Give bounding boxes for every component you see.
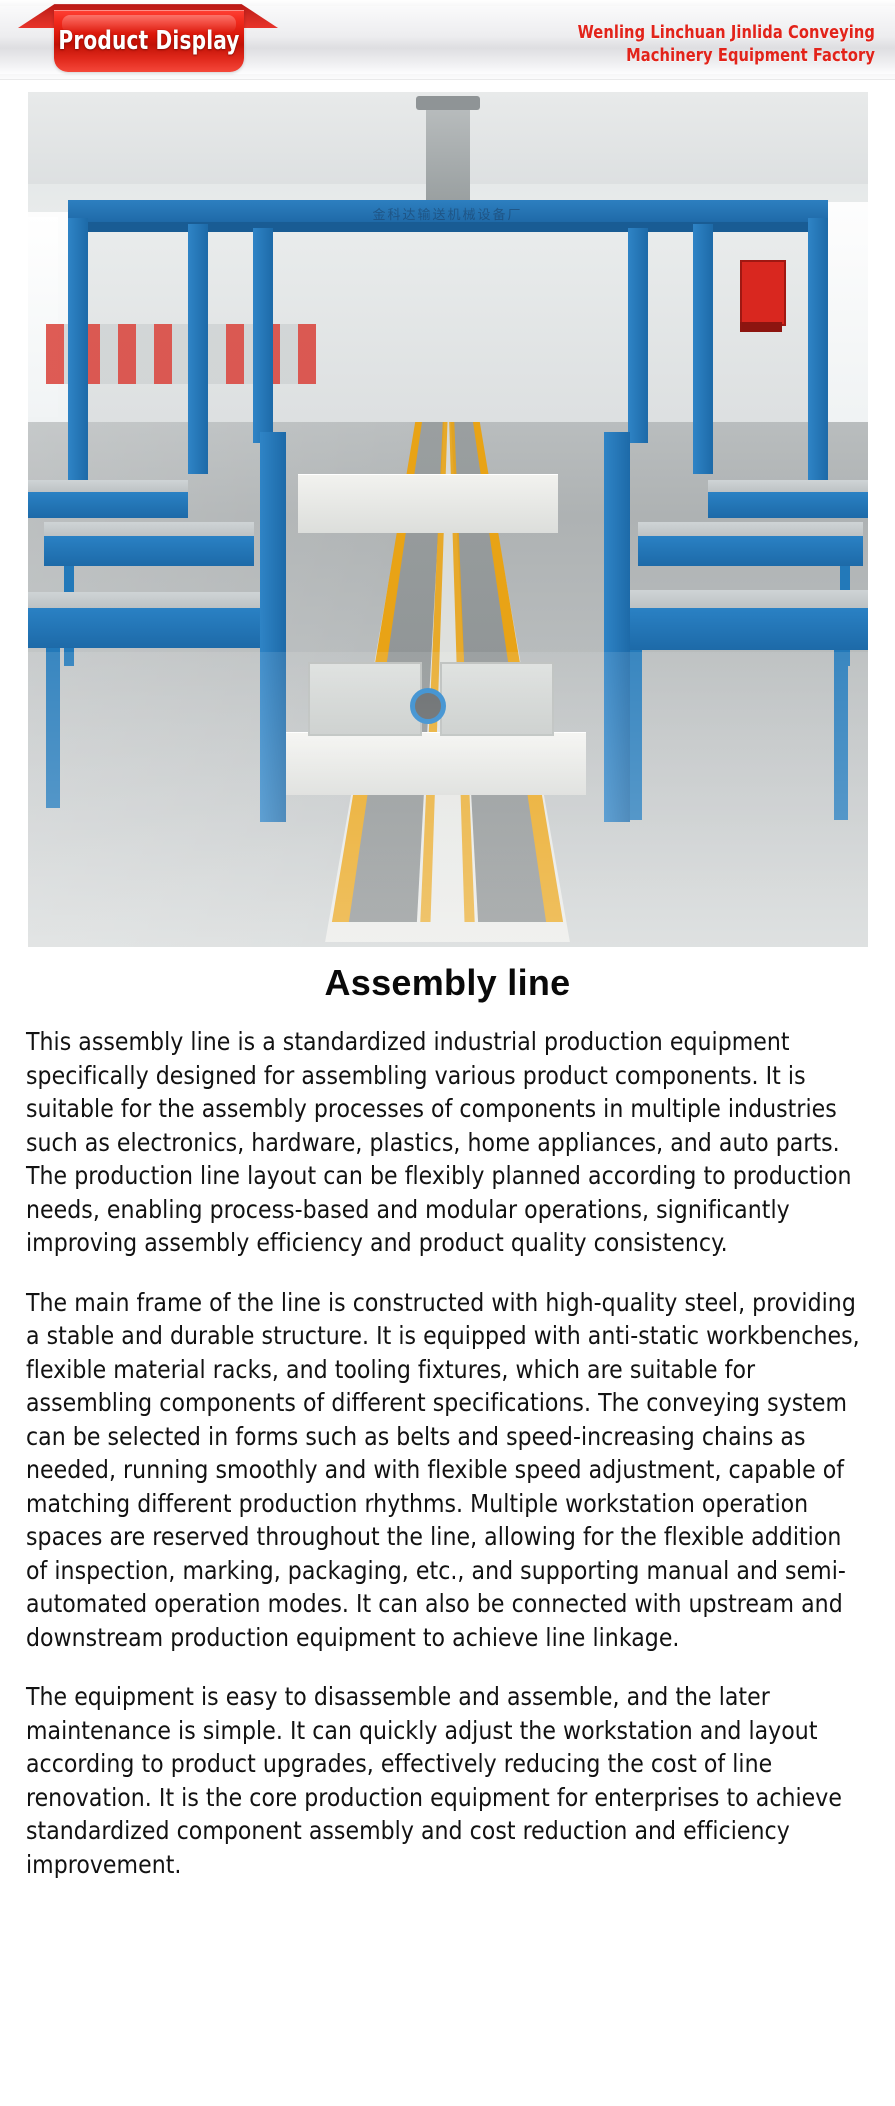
gantry-post-left-2: [188, 224, 208, 474]
overhead-sign-text: 金科达输送机械设备厂: [178, 204, 718, 226]
gantry-head-cap: [416, 96, 480, 110]
description-paragraph-3: The equipment is easy to disassemble and…: [26, 1680, 869, 1881]
workbench-left-1: [44, 522, 254, 536]
workbench-left-2-skirt: [28, 492, 188, 518]
workbench-right-3-skirt: [618, 608, 868, 650]
gantry-post-right-3: [628, 228, 648, 443]
product-photo: 金科达输送机械设备厂: [28, 92, 868, 947]
workbench-right-1: [638, 522, 863, 536]
fire-cabinet-icon: [740, 260, 786, 326]
window-left-inner: [28, 217, 58, 417]
product-display-banner: Product Display: [18, 0, 278, 78]
workbench-left-3: [28, 592, 278, 608]
gantry-post-right-2: [693, 224, 713, 474]
page-header: Product Display Wenling Linchuan Jinlida…: [0, 0, 895, 80]
workbench-left-1-skirt: [44, 536, 254, 566]
company-name: Wenling Linchuan Jinlida Conveying Machi…: [484, 22, 875, 68]
workbench-right-2: [708, 480, 868, 492]
description-paragraph-2: The main frame of the line is constructe…: [26, 1286, 869, 1655]
product-photo-scene: 金科达输送机械设备厂: [28, 92, 868, 947]
product-description: This assembly line is a standardized ind…: [26, 1025, 869, 1881]
description-paragraph-1: This assembly line is a standardized ind…: [26, 1025, 869, 1260]
workbench-left-3-skirt: [28, 608, 278, 648]
product-title: Assembly line: [0, 961, 895, 1005]
product-display-page: Product Display Wenling Linchuan Jinlida…: [0, 0, 895, 2106]
banner-label: Product Display: [67, 20, 230, 62]
gantry-post-left-1: [68, 218, 88, 518]
fire-cabinet-base: [740, 322, 782, 332]
workbench-right-1-skirt: [638, 536, 863, 566]
gantry-head-unit: [426, 104, 470, 200]
floor-reflection: [28, 652, 868, 947]
workbench-left-2: [28, 480, 188, 492]
company-name-line2: Machinery Equipment Factory: [484, 45, 875, 68]
gantry-post-left-3: [253, 228, 273, 443]
workbench-right-3: [618, 590, 868, 608]
company-name-line1: Wenling Linchuan Jinlida Conveying: [484, 22, 875, 45]
conveyor-cross-panel: [298, 474, 558, 533]
workbench-right-2-skirt: [708, 492, 868, 518]
gantry-post-right-1: [808, 218, 828, 518]
